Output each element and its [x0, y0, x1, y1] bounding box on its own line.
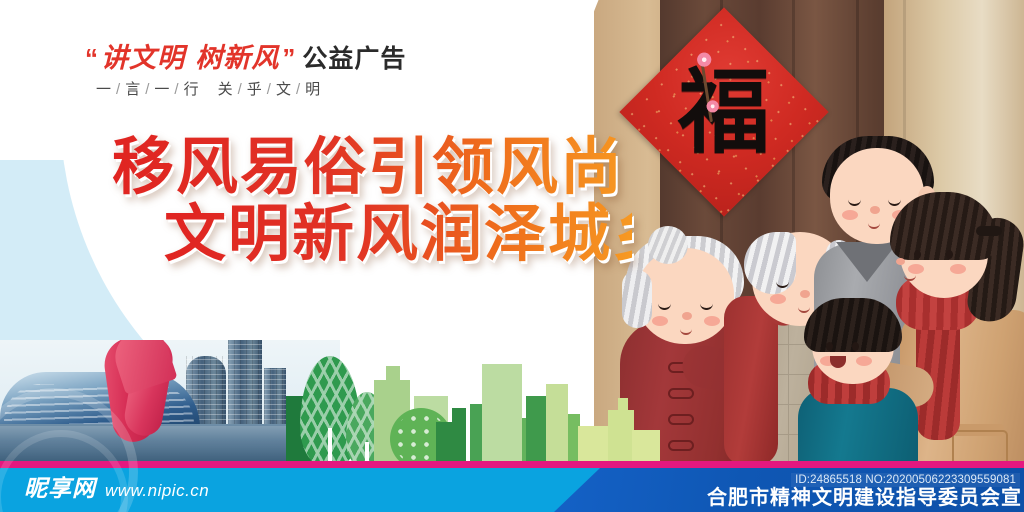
- pink-divider-bar: [0, 461, 1024, 468]
- subline-c4: 行: [184, 81, 202, 98]
- subline: 一/言/一/行关/乎/文/明: [96, 78, 323, 99]
- subline-c8: 明: [305, 81, 323, 98]
- headline-line-2: 文明新风润泽城乡: [164, 201, 632, 268]
- subline-c6: 乎: [247, 81, 265, 98]
- watermark-url: www.nipic.cn: [105, 481, 209, 501]
- subline-c2: 言: [125, 81, 143, 98]
- headline-block: 移风易俗引领风尚 文明新风润泽城乡: [112, 134, 632, 268]
- fu-character: 福: [650, 38, 798, 186]
- quote-close: ”: [282, 45, 295, 71]
- organization-line: 合肥市精神文明建设指导委员会宣: [707, 481, 1022, 510]
- watermark-name: 昵享网: [24, 469, 96, 503]
- subline-c1: 一: [96, 81, 114, 98]
- subline-c3: 一: [154, 81, 172, 98]
- subline-c5: 关: [218, 81, 236, 98]
- public-service-poster: 福: [0, 0, 1024, 512]
- quote-open: “: [85, 45, 98, 71]
- fu-diamond-plaque: 福: [619, 7, 828, 216]
- kicker-red-text: 讲文明 树新风: [101, 36, 279, 75]
- green-eco-skyline: [286, 346, 660, 470]
- boy-figure: [790, 300, 930, 470]
- plum-blossom-icon: [697, 53, 711, 67]
- kicker-line: “ 讲文明 树新风 ” 公益广告: [82, 36, 406, 75]
- headline-line-1: 移风易俗引领风尚: [112, 134, 632, 201]
- kicker-black-text: 公益广告: [302, 39, 406, 75]
- subline-c7: 文: [276, 81, 294, 98]
- watermark: 昵享网 www.nipic.cn: [24, 469, 209, 503]
- plum-blossom-icon: [707, 100, 719, 112]
